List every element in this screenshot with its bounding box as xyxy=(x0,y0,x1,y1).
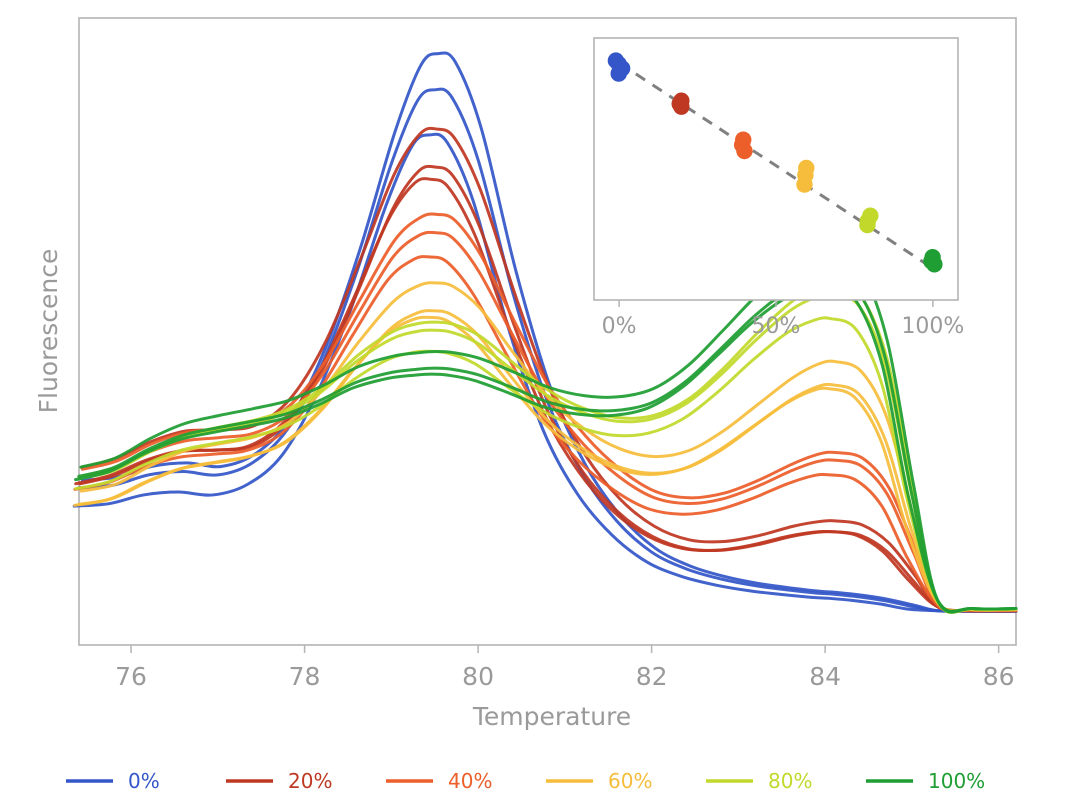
legend-item-label: 80% xyxy=(768,769,812,793)
legend-item-label: 60% xyxy=(608,769,652,793)
x-tick-label: 82 xyxy=(636,662,668,691)
inset-standard-curve: 0%50%100% xyxy=(594,38,964,339)
melt-curve-line xyxy=(79,311,1016,611)
y-axis-title: Fluorescence xyxy=(34,249,63,414)
scatter-point xyxy=(611,65,627,81)
legend-item-label: 20% xyxy=(288,769,332,793)
inset-background xyxy=(594,38,958,300)
legend-item-label: 40% xyxy=(448,769,492,793)
main-x-tick-labels: 767880828486 xyxy=(115,662,1014,691)
main-x-tick-marks xyxy=(131,645,999,653)
legend-item-label: 100% xyxy=(928,769,985,793)
legend-item[interactable]: 60% xyxy=(546,769,652,793)
inset-x-tick-label: 100% xyxy=(901,314,964,339)
scatter-point xyxy=(736,143,752,159)
x-tick-label: 84 xyxy=(809,662,841,691)
legend-item-label: 0% xyxy=(128,769,160,793)
legend-item[interactable]: 100% xyxy=(866,769,985,793)
legend-item[interactable]: 0% xyxy=(66,769,160,793)
x-tick-label: 80 xyxy=(462,662,494,691)
scatter-point xyxy=(859,217,875,233)
melt-curve-line xyxy=(81,283,1016,612)
scatter-point xyxy=(796,176,812,192)
x-tick-label: 76 xyxy=(115,662,147,691)
legend-item[interactable]: 40% xyxy=(386,769,492,793)
legend: 0%20%40%60%80%100% xyxy=(66,769,985,793)
inset-x-tick-label: 50% xyxy=(752,314,801,339)
x-tick-label: 86 xyxy=(983,662,1015,691)
legend-item[interactable]: 20% xyxy=(226,769,332,793)
inset-x-tick-label: 0% xyxy=(602,314,637,339)
x-axis-title: Temperature xyxy=(472,702,631,731)
legend-item[interactable]: 80% xyxy=(706,769,812,793)
inset-x-tick-marks xyxy=(619,300,933,307)
melt-curve-figure: 767880828486 Temperature Fluorescence 0%… xyxy=(0,0,1080,811)
inset-x-tick-labels: 0%50%100% xyxy=(602,314,965,339)
scatter-point xyxy=(926,256,942,272)
x-tick-label: 78 xyxy=(289,662,321,691)
melt-curve-line xyxy=(81,255,1016,612)
melt-curve-line xyxy=(76,318,1016,612)
plot-canvas: 767880828486 Temperature Fluorescence 0%… xyxy=(0,0,1080,811)
scatter-point xyxy=(673,98,689,114)
